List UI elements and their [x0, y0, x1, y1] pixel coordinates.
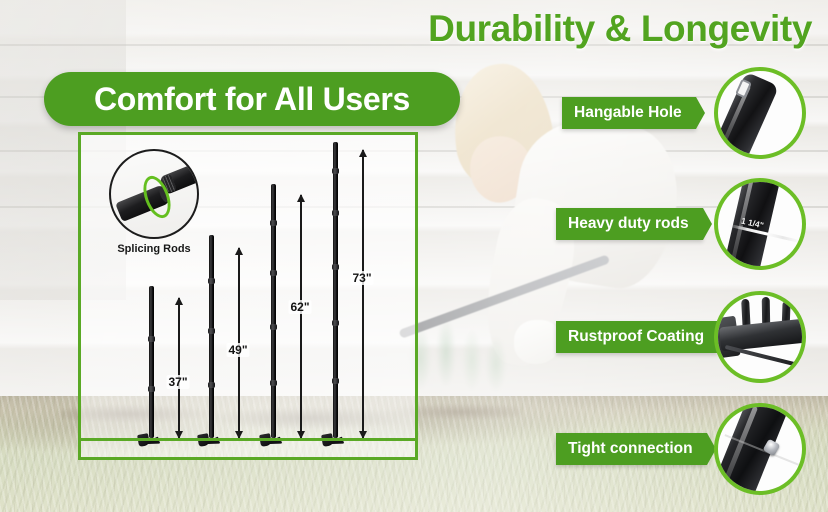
dimension-label-62: 62" — [288, 300, 311, 314]
dimension-arrow-62 — [300, 195, 302, 438]
dimension-label-73: 73" — [350, 271, 373, 285]
feature-tag-tight-connection[interactable]: Tight connection — [556, 433, 707, 465]
dimension-label-49: 49" — [226, 343, 249, 357]
comfort-banner-label: Comfort for All Users — [94, 81, 410, 118]
feature-photo-rustproof-coating — [714, 291, 806, 383]
rod-73 — [333, 142, 338, 438]
tube-end-with-hanging-slot-icon — [718, 71, 802, 155]
rod-49 — [209, 235, 214, 438]
feature-tag-rustproof-coating[interactable]: Rustproof Coating — [556, 321, 718, 353]
dimension-arrow-73 — [362, 150, 364, 438]
feature-label-rustproof-coating: Rustproof Coating — [568, 328, 704, 346]
feature-photo-tight-connection — [714, 403, 806, 495]
feature-label-tight-connection: Tight connection — [568, 440, 693, 458]
rod-joint-clamp-bolt-closeup-icon — [718, 407, 802, 491]
feature-label-hangable-hole: Hangable Hole — [574, 104, 682, 122]
splicing-rods-caption: Splicing Rods — [105, 243, 203, 255]
splicing-rods-inset — [109, 149, 199, 239]
rod-37 — [149, 286, 154, 438]
dimension-arrow-37 — [178, 298, 180, 438]
rod-diameter-closeup-icon: 1 1/4" — [718, 182, 802, 266]
feature-tag-heavy-duty-rods[interactable]: Heavy duty rods — [556, 208, 703, 240]
size-chart-panel: Splicing Rods 37" — [78, 132, 418, 460]
page-title: Durability & Longevity — [428, 10, 812, 47]
feature-photo-heavy-duty-rods: 1 1/4" — [714, 178, 806, 270]
dimension-label-37: 37" — [166, 375, 189, 389]
coated-rake-head-closeup-icon — [718, 295, 802, 379]
ground-line — [81, 438, 415, 441]
comfort-banner: Comfort for All Users — [44, 72, 460, 126]
feature-photo-hangable-hole — [714, 67, 806, 159]
feature-label-heavy-duty-rods: Heavy duty rods — [568, 215, 689, 233]
rod-62 — [271, 184, 276, 438]
product-infographic: Durability & Longevity Comfort for All U… — [0, 0, 828, 512]
feature-tag-hangable-hole[interactable]: Hangable Hole — [562, 97, 696, 129]
